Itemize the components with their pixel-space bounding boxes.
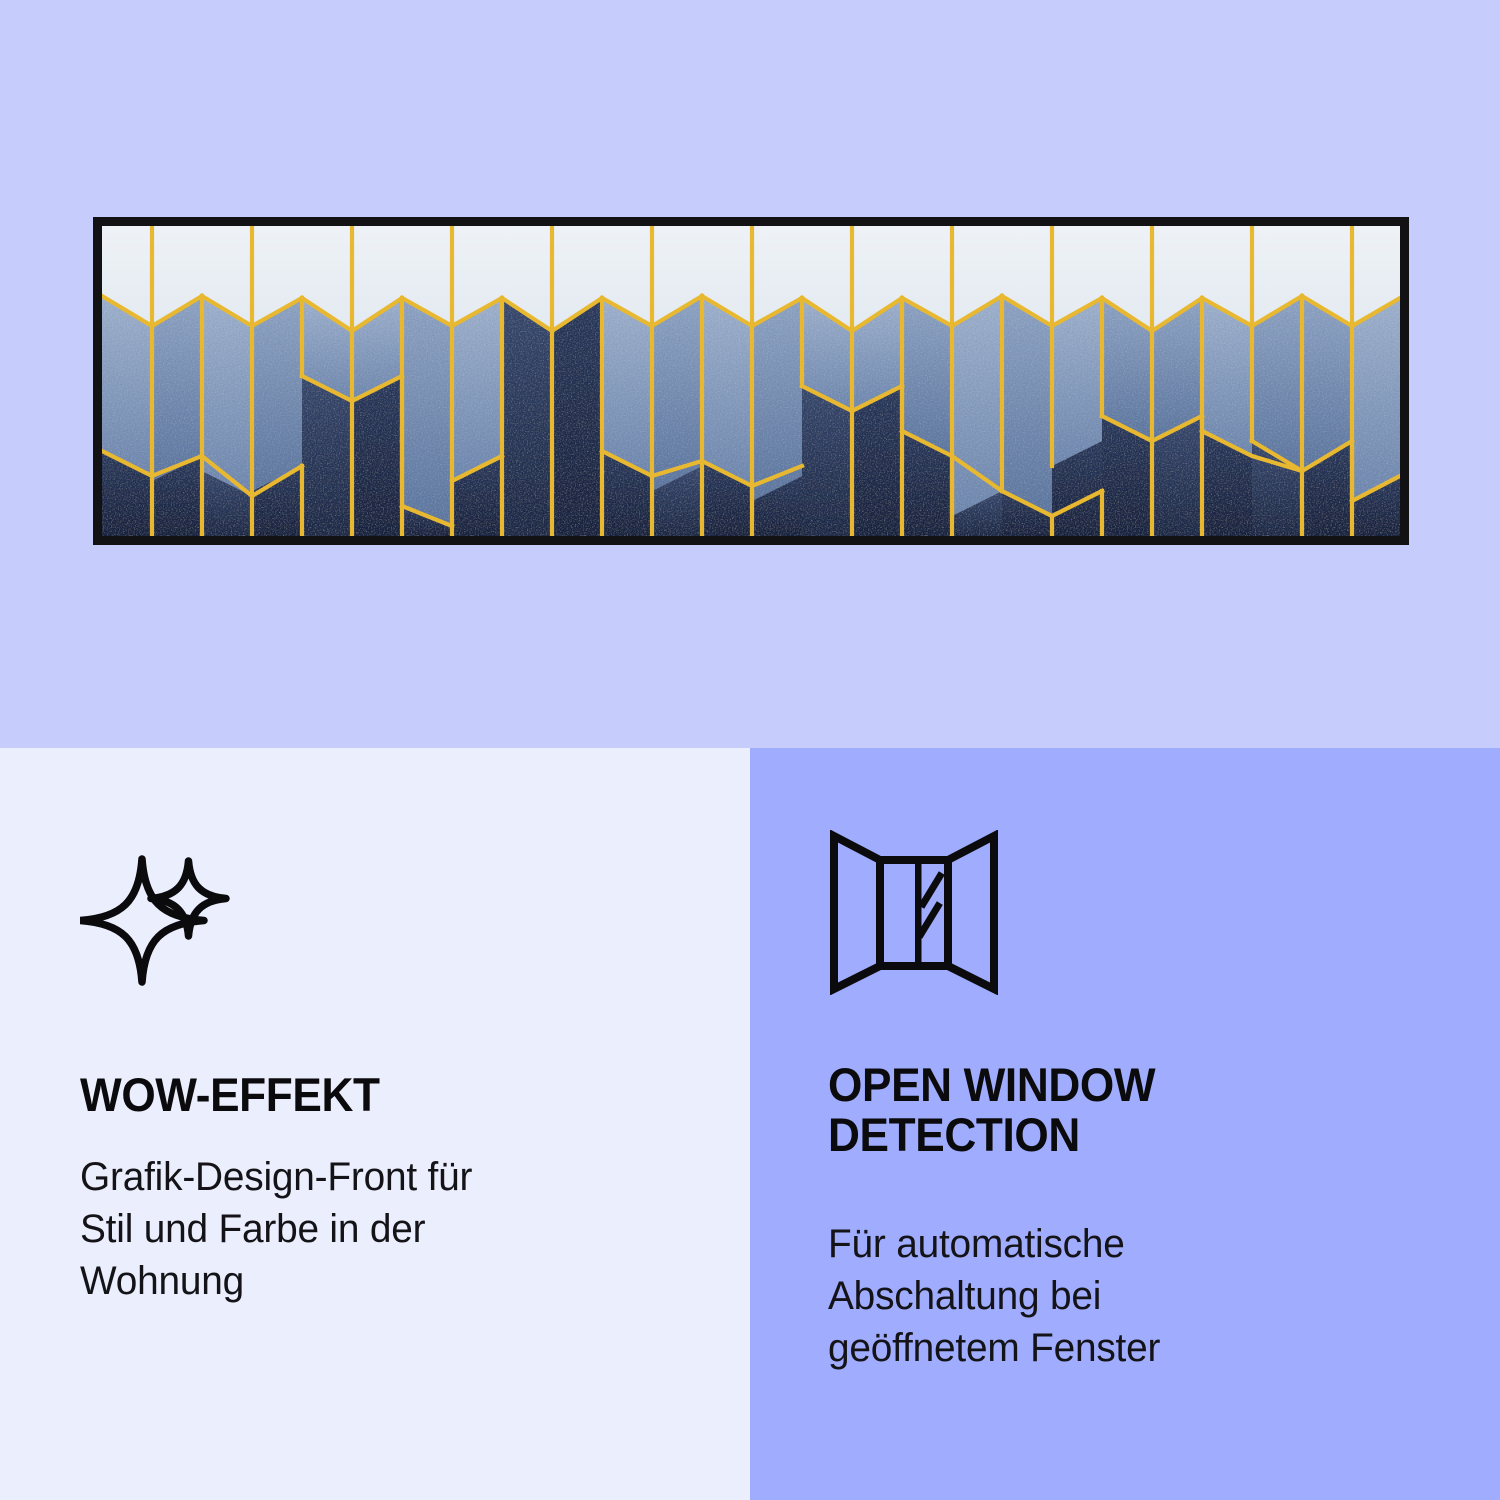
infographic-page: WOW-EFFEKT Grafik-Design-Front für Stil … [0, 0, 1500, 1500]
feature-description-wow-effekt: Grafik-Design-Front für Stil und Farbe i… [80, 1151, 536, 1307]
feature-panel-open-window-detection: OPEN WINDOW DETECTION Für automatische A… [750, 748, 1500, 1500]
hero-section [0, 0, 1500, 748]
artwork-canvas [102, 226, 1400, 536]
feature-title-open-window-detection: OPEN WINDOW DETECTION [828, 1060, 1413, 1160]
open-window-icon [828, 830, 1000, 1000]
sparkle-icon [80, 840, 235, 993]
feature-description-open-window-detection: Für automatische Abschaltung bei geöffne… [828, 1218, 1289, 1374]
geometric-artwork [102, 226, 1400, 536]
framed-art-product [93, 217, 1409, 545]
feature-panel-wow-effekt: WOW-EFFEKT Grafik-Design-Front für Stil … [0, 748, 750, 1500]
feature-panels: WOW-EFFEKT Grafik-Design-Front für Stil … [0, 748, 1500, 1500]
feature-title-wow-effekt: WOW-EFFEKT [80, 1070, 380, 1120]
